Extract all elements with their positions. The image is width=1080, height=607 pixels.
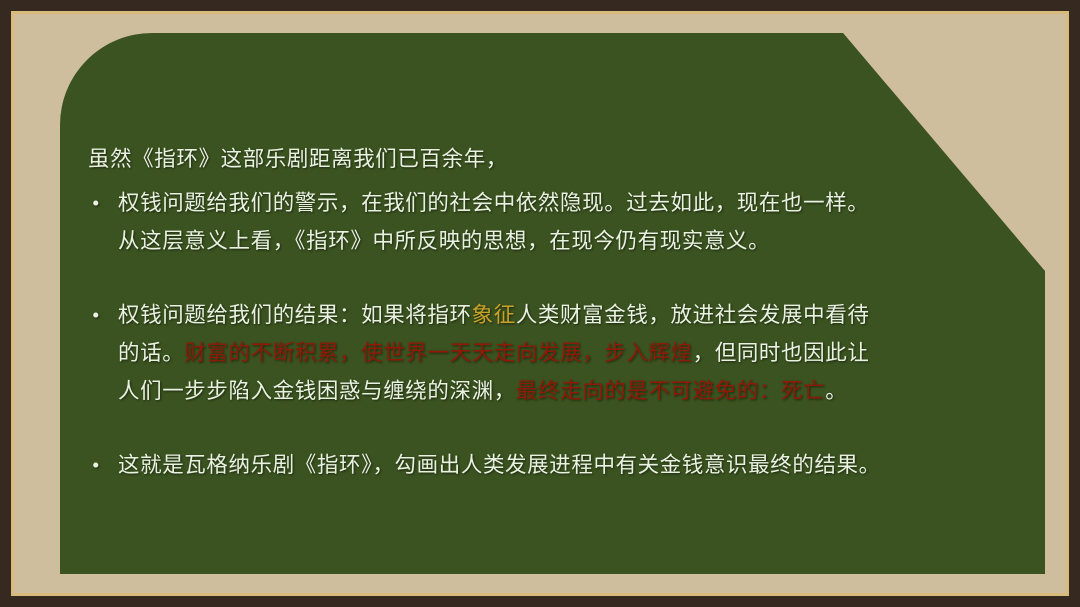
- bullet-item-1: • 权钱问题给我们的警示，在我们的社会中依然隐现。过去如此，现在也一样。 从这层…: [88, 184, 948, 260]
- gold-highlight-run: 象征: [472, 303, 516, 327]
- text-run: 权钱问题给我们的结果：如果将指环: [118, 303, 472, 327]
- bullet-item-3: • 这就是瓦格纳乐剧《指环》，勾画出人类发展进程中有关金钱意识最终的结果。: [88, 446, 948, 484]
- bullet-body-1: 权钱问题给我们的警示，在我们的社会中依然隐现。过去如此，现在也一样。 从这层意义…: [118, 184, 948, 260]
- text-run: 的话。: [118, 341, 184, 365]
- bullet-marker: •: [88, 184, 118, 222]
- bullet-1-line-2: 从这层意义上看，《指环》中所反映的思想，在现今仍有现实意义。: [118, 222, 948, 260]
- bullet-body-2: 权钱问题给我们的结果：如果将指环象征人类财富金钱，放进社会发展中看待 的话。财富…: [118, 296, 948, 410]
- text-run: 人类财富金钱，放进社会发展中看待: [516, 303, 870, 327]
- bullet-1-line-1: 权钱问题给我们的警示，在我们的社会中依然隐现。过去如此，现在也一样。: [118, 184, 948, 222]
- slide-canvas: 虽然《指环》这部乐剧距离我们已百余年， • 权钱问题给我们的警示，在我们的社会中…: [0, 0, 1080, 607]
- bullet-marker: •: [88, 296, 118, 334]
- bullet-marker: •: [88, 446, 118, 484]
- spacer: [88, 260, 948, 296]
- bullet-2-line-3: 人们一步步陷入金钱困惑与缠绕的深渊，最终走向的是不可避免的：死亡。: [118, 372, 948, 410]
- lead-line: 虽然《指环》这部乐剧距离我们已百余年，: [88, 140, 948, 178]
- text-run: ，但同时也因此让: [693, 341, 870, 365]
- text-run: 从这层意义上看，《指环》中所反映的思想，在现今仍有现实意义。: [118, 229, 770, 253]
- text-run: 权钱问题给我们的警示，在我们的社会中依然隐现。过去如此，现在也一样。: [118, 191, 869, 215]
- slide-text-content: 虽然《指环》这部乐剧距离我们已百余年， • 权钱问题给我们的警示，在我们的社会中…: [88, 140, 948, 484]
- red-highlight-run: 最终走向的是不可避免的：死亡: [516, 379, 825, 403]
- text-run: 。: [825, 379, 847, 403]
- bullet-2-line-1: 权钱问题给我们的结果：如果将指环象征人类财富金钱，放进社会发展中看待: [118, 296, 948, 334]
- bullet-item-2: • 权钱问题给我们的结果：如果将指环象征人类财富金钱，放进社会发展中看待 的话。…: [88, 296, 948, 410]
- bullet-2-line-2: 的话。财富的不断积累，使世界一天天走向发展，步入辉煌，但同时也因此让: [118, 334, 948, 372]
- spacer: [88, 410, 948, 446]
- red-highlight-run: 财富的不断积累，使世界一天天走向发展，步入辉煌: [184, 341, 692, 365]
- text-run: 人们一步步陷入金钱困惑与缠绕的深渊，: [118, 379, 516, 403]
- bullet-body-3: 这就是瓦格纳乐剧《指环》，勾画出人类发展进程中有关金钱意识最终的结果。: [118, 446, 948, 484]
- text-run: 这就是瓦格纳乐剧《指环》，勾画出人类发展进程中有关金钱意识最终的结果。: [118, 453, 881, 477]
- bullet-3-line-1: 这就是瓦格纳乐剧《指环》，勾画出人类发展进程中有关金钱意识最终的结果。: [118, 446, 948, 484]
